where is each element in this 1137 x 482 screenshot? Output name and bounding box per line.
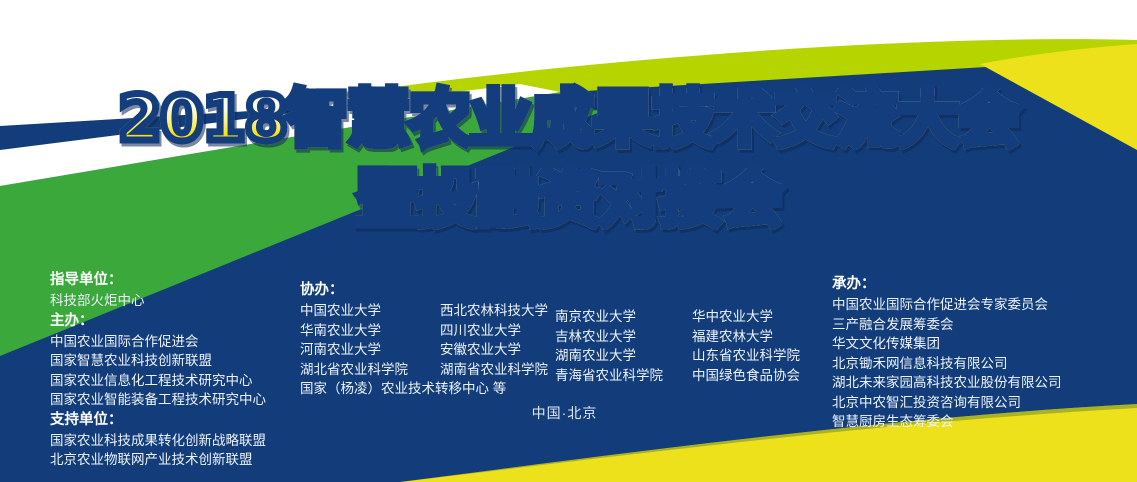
coorganizer2-item: 青海省农业科学院 — [555, 366, 692, 386]
coorganizer-row: 华南农业大学 四川农业大学 — [300, 321, 548, 341]
guidance-item: 科技部火炬中心 — [50, 291, 266, 311]
undertaker-item: 三产融合发展筹委会 — [832, 315, 1062, 335]
coorganizer2-item: 中国绿色食品协会 — [692, 366, 800, 386]
undertaker-heading: 承办： — [832, 274, 1062, 295]
support-item: 国家农业科技成果转化创新战略联盟 — [50, 431, 266, 451]
coorganizer-item: 西北农林科技大学 — [440, 301, 548, 321]
undertaker-item: 华文文化传媒集团 — [832, 334, 1062, 354]
organizer-item: 国家智慧农业科技创新联盟 — [50, 351, 266, 371]
undertaker-item: 北京锄禾网信息科技有限公司 — [832, 354, 1062, 374]
coorganizer-item: 四川农业大学 — [440, 321, 521, 341]
organizer-item: 中国农业国际合作促进会 — [50, 332, 266, 352]
organizer-heading: 主办： — [50, 311, 266, 332]
coorganizer2-row: 青海省农业科学院 中国绿色食品协会 — [555, 366, 800, 386]
column-left: 指导单位： 科技部火炬中心 主办： 中国农业国际合作促进会 国家智慧农业科技创新… — [50, 270, 266, 470]
coorganizer-item: 华南农业大学 — [300, 321, 440, 341]
coorganizer-item: 中国农业大学 — [300, 301, 440, 321]
coorganizer-row: 河南农业大学 安徽农业大学 — [300, 340, 548, 360]
coorganizer2-item: 福建农林大学 — [692, 327, 773, 347]
coorganizer-item: 湖北省农业科学院 — [300, 360, 440, 380]
coorganizer2-item: 华中农业大学 — [692, 307, 773, 327]
coorganizer2-item: 吉林农业大学 — [555, 327, 692, 347]
coorganizer2-item: 湖南农业大学 — [555, 346, 692, 366]
coorganizer-item: 国家（杨凌）农业技术转移中心 等 — [300, 379, 506, 399]
coorganizer-row: 国家（杨凌）农业技术转移中心 等 — [300, 379, 548, 399]
undertaker-item: 中国农业国际合作促进会专家委员会 — [832, 295, 1062, 315]
coorganizer2-row: 南京农业大学 华中农业大学 — [555, 307, 800, 327]
coorganizer-heading: 协办： — [300, 280, 548, 301]
coorganizer-item: 河南农业大学 — [300, 340, 440, 360]
coorganizer-item: 安徽农业大学 — [440, 340, 521, 360]
coorganizer2-item: 山东省农业科学院 — [692, 346, 800, 366]
organizer-item: 国家农业信息化工程技术研究中心 — [50, 371, 266, 391]
undertaker-item: 湖北未来家园高科技农业股份有限公司 — [832, 373, 1062, 393]
coorganizer2-item: 南京农业大学 — [555, 307, 692, 327]
guidance-heading: 指导单位： — [50, 270, 266, 291]
city-line: 中国·北京 — [0, 403, 1137, 423]
conference-banner: 2018智慧农业成果技术交流大会 暨投融资对接会 指导单位： 科技部火炬中心 主… — [0, 0, 1137, 482]
coorganizer-row: 中国农业大学 西北农林科技大学 — [300, 301, 548, 321]
coorganizer2-row: 湖南农业大学 山东省农业科学院 — [555, 346, 800, 366]
coorganizer-row: 湖北省农业科学院 湖南省农业科学院 — [300, 360, 548, 380]
coorganizer-item: 湖南省农业科学院 — [440, 360, 548, 380]
coorganizer2-row: 吉林农业大学 福建农林大学 — [555, 327, 800, 347]
column-coorganizer: 协办： 中国农业大学 西北农林科技大学 华南农业大学 四川农业大学 河南农业大学… — [300, 280, 548, 399]
support-item: 北京农业物联网产业技术创新联盟 — [50, 450, 266, 470]
column-coorganizer-2: 南京农业大学 华中农业大学 吉林农业大学 福建农林大学 湖南农业大学 山东省农业… — [555, 307, 800, 385]
info-columns: 指导单位： 科技部火炬中心 主办： 中国农业国际合作促进会 国家智慧农业科技创新… — [0, 262, 1137, 482]
city-line-text: 中国·北京 — [532, 403, 598, 423]
